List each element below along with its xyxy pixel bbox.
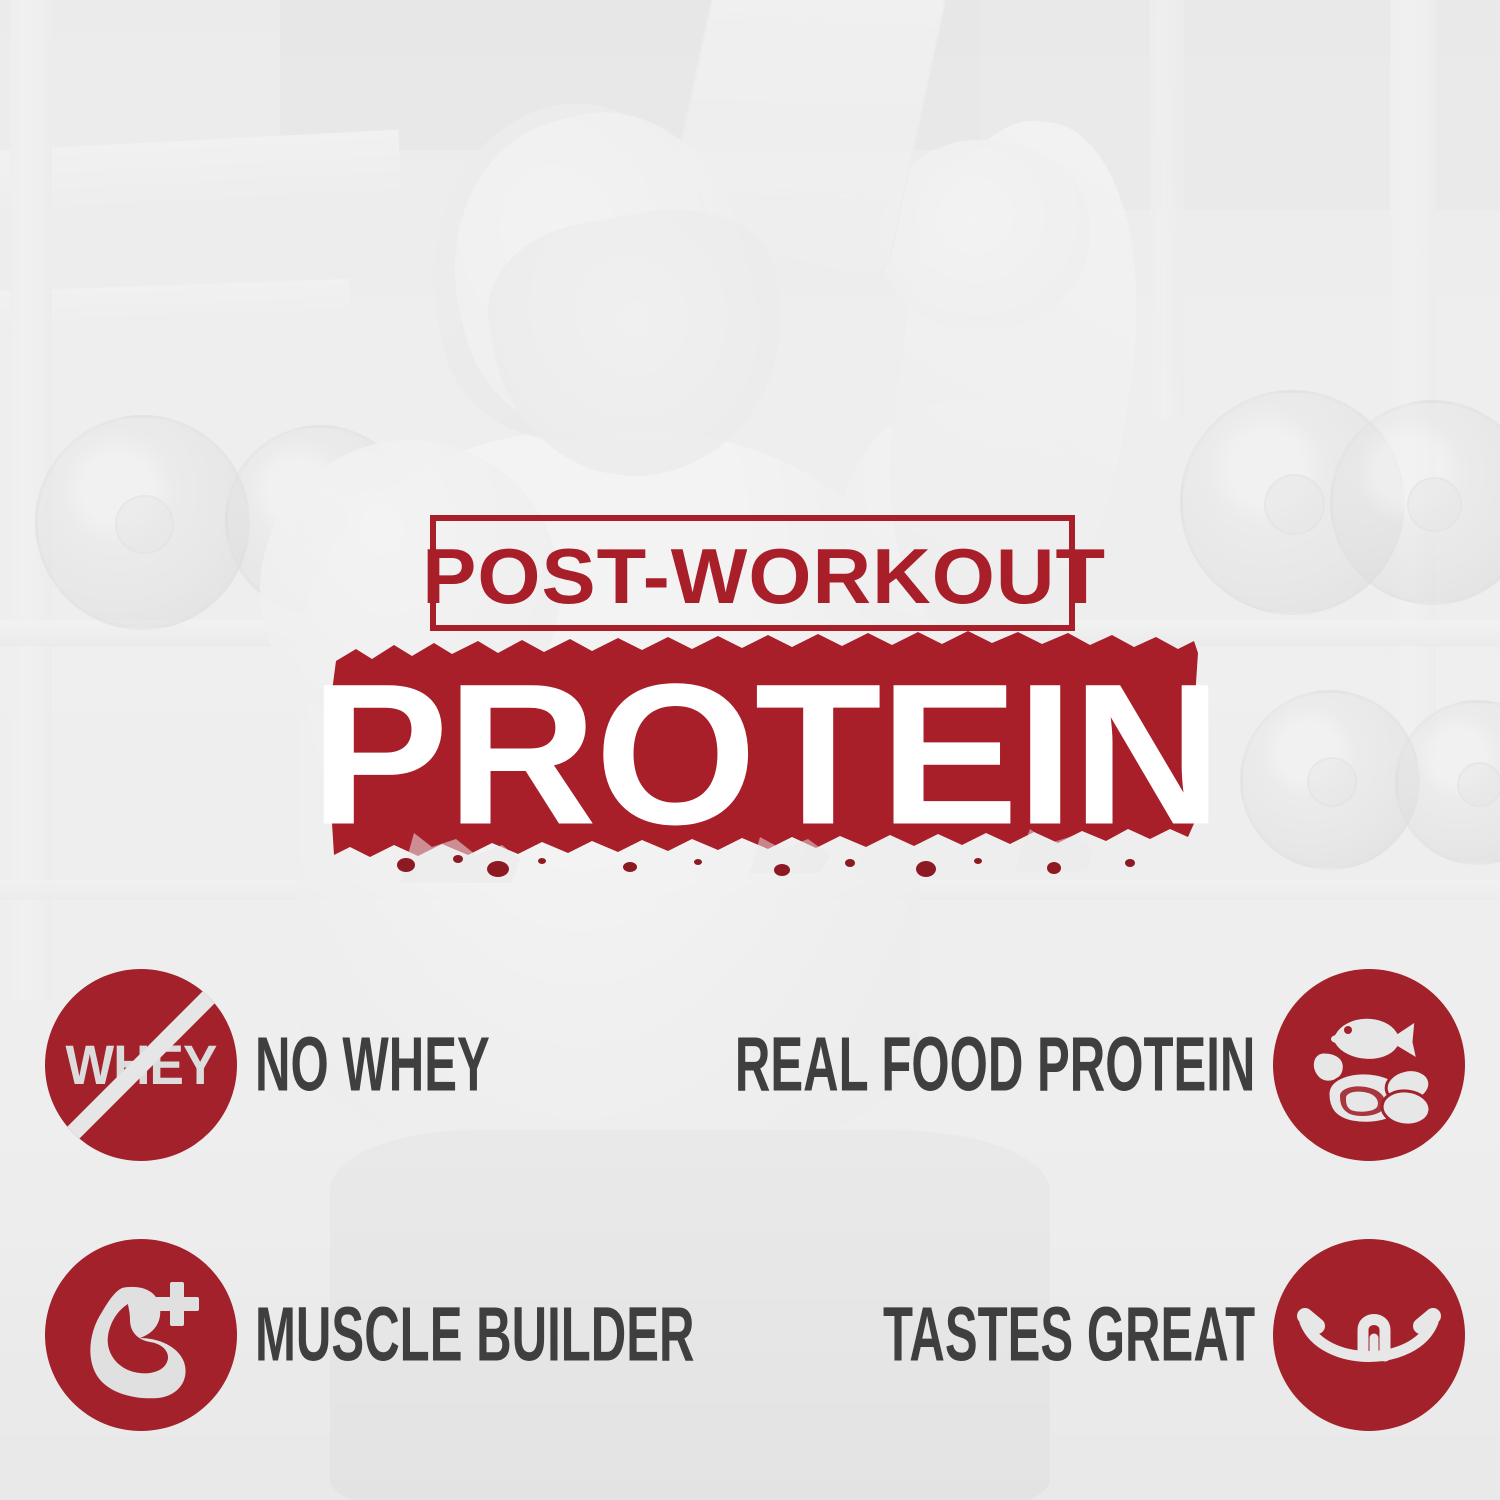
feature-label-no-whey: NO WHEY [255,1026,490,1104]
feature-label-real-food-protein: REAL FOOD PROTEIN [734,1026,1255,1104]
feature-tastes-great[interactable]: TASTES GREAT [745,1230,1465,1440]
eyebrow-text: POST-WORKOUT [422,535,1088,617]
headline-text: PROTEIN [278,655,1252,856]
feature-grid: WHEY NO WHEY REAL FOOD PROTEIN [0,940,1500,1480]
feature-muscle-builder[interactable]: MUSCLE BUILDER [45,1230,665,1440]
feature-label-muscle-builder: MUSCLE BUILDER [255,1296,695,1374]
feature-no-whey[interactable]: WHEY NO WHEY [45,960,665,1170]
title-block: POST-WORKOUT [330,505,1200,905]
licking-mouth-icon [1273,1239,1465,1431]
flexed-bicep-plus-icon [45,1239,237,1431]
no-whey-icon: WHEY [45,969,237,1161]
feature-real-food-protein[interactable]: REAL FOOD PROTEIN [745,960,1465,1170]
feature-label-tastes-great: TASTES GREAT [883,1296,1255,1374]
product-feature-poster: POST-WORKOUT [0,0,1500,1500]
real-food-icon [1273,969,1465,1161]
